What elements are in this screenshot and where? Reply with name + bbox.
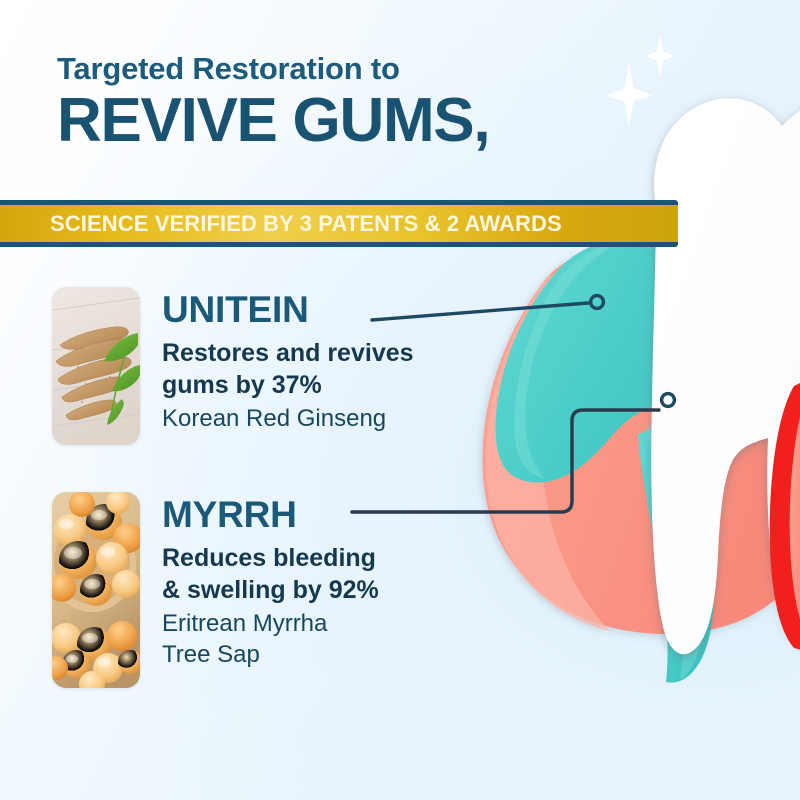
ingredient-source: Eritrean Myrrha Tree Sap	[162, 609, 379, 670]
page-title: REVIVE GUMS,	[57, 89, 617, 153]
ingredient-item[interactable]: UNITEIN Restores and revives gums by 37%…	[52, 287, 414, 445]
ingredient-source: Korean Red Ginseng	[162, 404, 414, 435]
ingredient-claim-line: Restores and revives	[162, 337, 414, 369]
banner-label: SCIENCE VERIFIED BY 3 PATENTS & 2 AWARDS	[0, 211, 562, 237]
ingredient-name: UNITEIN	[162, 291, 414, 328]
ingredient-claim-line: gums by 37%	[162, 369, 414, 401]
ingredient-name: MYRRH	[162, 496, 379, 533]
ingredient-item[interactable]: MYRRH Reduces bleeding & swelling by 92%…	[52, 492, 379, 688]
ingredient-claim-line: Reduces bleeding	[162, 542, 379, 574]
header-block: Targeted Restoration to REVIVE GUMS,	[57, 52, 617, 153]
ingredient-claim-line: & swelling by 92%	[162, 574, 379, 606]
ingredient-text: MYRRH Reduces bleeding & swelling by 92%…	[162, 496, 379, 670]
science-verified-banner: SCIENCE VERIFIED BY 3 PATENTS & 2 AWARDS	[0, 200, 678, 247]
ingredient-claim: Reduces bleeding & swelling by 92%	[162, 542, 379, 606]
ingredient-text: UNITEIN Restores and revives gums by 37%…	[162, 291, 414, 435]
ingredient-claim: Restores and revives gums by 37%	[162, 337, 414, 401]
kicker-text: Targeted Restoration to	[57, 52, 617, 87]
korean-red-ginseng-thumbnail	[52, 287, 140, 445]
tooth-and-gum-illustration	[470, 86, 800, 706]
ingredient-source-line: Tree Sap	[162, 640, 379, 671]
sparkle-icon	[645, 34, 675, 78]
ingredient-source-line: Eritrean Myrrha	[162, 609, 379, 640]
infographic-poster: Targeted Restoration to REVIVE GUMS, SCI…	[0, 0, 800, 800]
ingredient-source-line: Korean Red Ginseng	[162, 404, 414, 435]
myrrh-resin-thumbnail	[52, 492, 140, 688]
